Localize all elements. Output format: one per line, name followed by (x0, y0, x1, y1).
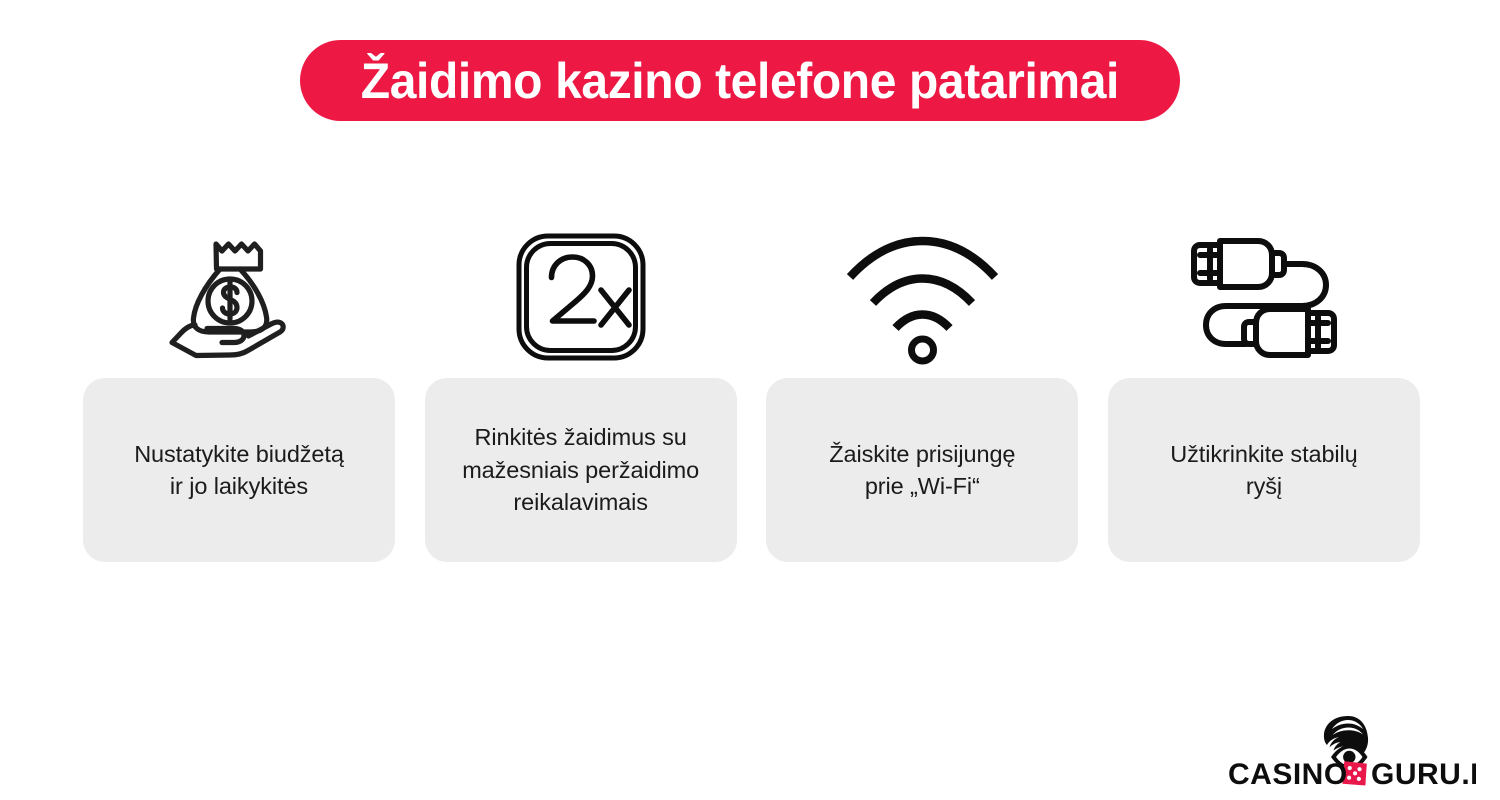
logo-text-left: CASINO (1228, 758, 1348, 788)
money-bag-in-hand-icon (164, 215, 314, 378)
tips-row: Nustatykite biudžetą ir jo laikykitės Ri… (83, 215, 1420, 565)
tip-column-1: Nustatykite biudžetą ir jo laikykitės (83, 215, 395, 562)
page-title-banner: Žaidimo kazino telefone patarimai (300, 40, 1180, 121)
tip-text-2: Rinkitės žaidimus su mažesniais peržaidi… (462, 421, 699, 518)
tip-text-1: Nustatykite biudžetą ir jo laikykitės (134, 438, 344, 503)
tip-card-2: Rinkitės žaidimus su mažesniais peržaidi… (425, 378, 737, 562)
tip-column-3: Žaiskite prisijungę prie „Wi-Fi“ (766, 215, 1078, 562)
tip-text-3: Žaiskite prisijungę prie „Wi-Fi“ (829, 438, 1015, 503)
tip-card-3: Žaiskite prisijungę prie „Wi-Fi“ (766, 378, 1078, 562)
casino-guru-logo[interactable]: CASINO GURU.LT (1228, 712, 1476, 788)
tip-card-4: Užtikrinkite stabilų ryšį (1108, 378, 1420, 562)
power-cable-icon (1174, 215, 1354, 378)
tip-text-4: Užtikrinkite stabilų ryšį (1170, 438, 1357, 503)
tip-column-2: Rinkitės žaidimus su mažesniais peržaidi… (425, 215, 737, 562)
tip-card-1: Nustatykite biudžetą ir jo laikykitės (83, 378, 395, 562)
tip-column-4: Užtikrinkite stabilų ryšį (1108, 215, 1420, 562)
wifi-icon (840, 215, 1005, 378)
page-title: Žaidimo kazino telefone patarimai (361, 56, 1119, 106)
two-times-wagering-icon (506, 215, 656, 378)
logo-text-right: GURU.LT (1371, 758, 1476, 788)
